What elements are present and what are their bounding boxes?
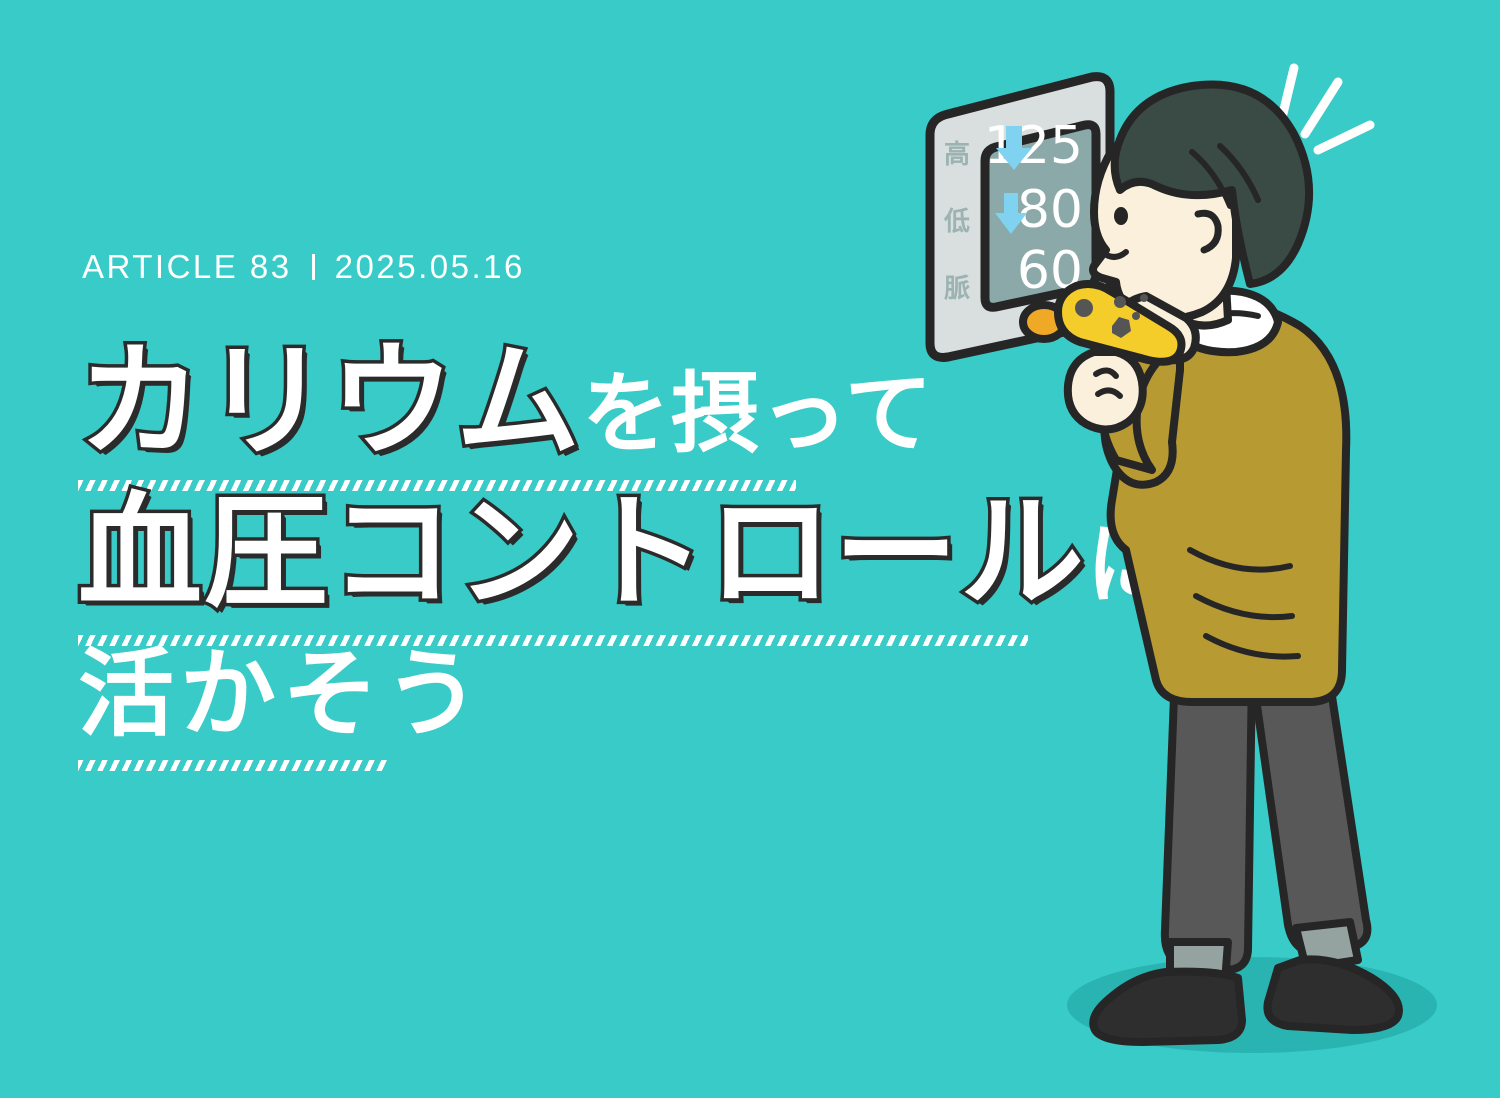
article-meta: ARTICLE 83 2025.05.16 bbox=[82, 248, 525, 286]
article-date: 2025.05.16 bbox=[335, 248, 525, 286]
emphasis-line-3 bbox=[1318, 125, 1370, 150]
emphasis-line-2 bbox=[1305, 82, 1338, 134]
title-line-1-emphasis: カリウム bbox=[78, 330, 582, 474]
reading-systolic: 125 bbox=[984, 116, 1083, 176]
title-underline-3 bbox=[78, 760, 388, 771]
shoe-front bbox=[1267, 959, 1399, 1030]
leg-front bbox=[1252, 670, 1367, 952]
label-high-kanji: 高 bbox=[944, 139, 970, 170]
person-figure bbox=[1058, 85, 1399, 1042]
label-low-kanji: 低 bbox=[943, 207, 970, 237]
leg-back bbox=[1165, 670, 1252, 970]
reading-diastolic: 80 bbox=[1017, 180, 1083, 240]
illustration: 高 低 脈 125 80 60 bbox=[880, 30, 1500, 1080]
meta-separator bbox=[312, 254, 315, 280]
title-line-3-text: 活かそう bbox=[78, 638, 486, 750]
label-pulse-kanji: 脈 bbox=[944, 274, 970, 304]
article-number-label: ARTICLE 83 bbox=[82, 248, 292, 286]
eye bbox=[1114, 207, 1128, 225]
hero-banner: ARTICLE 83 2025.05.16 カリウムを摂って 血圧コントロールに… bbox=[0, 0, 1500, 1098]
